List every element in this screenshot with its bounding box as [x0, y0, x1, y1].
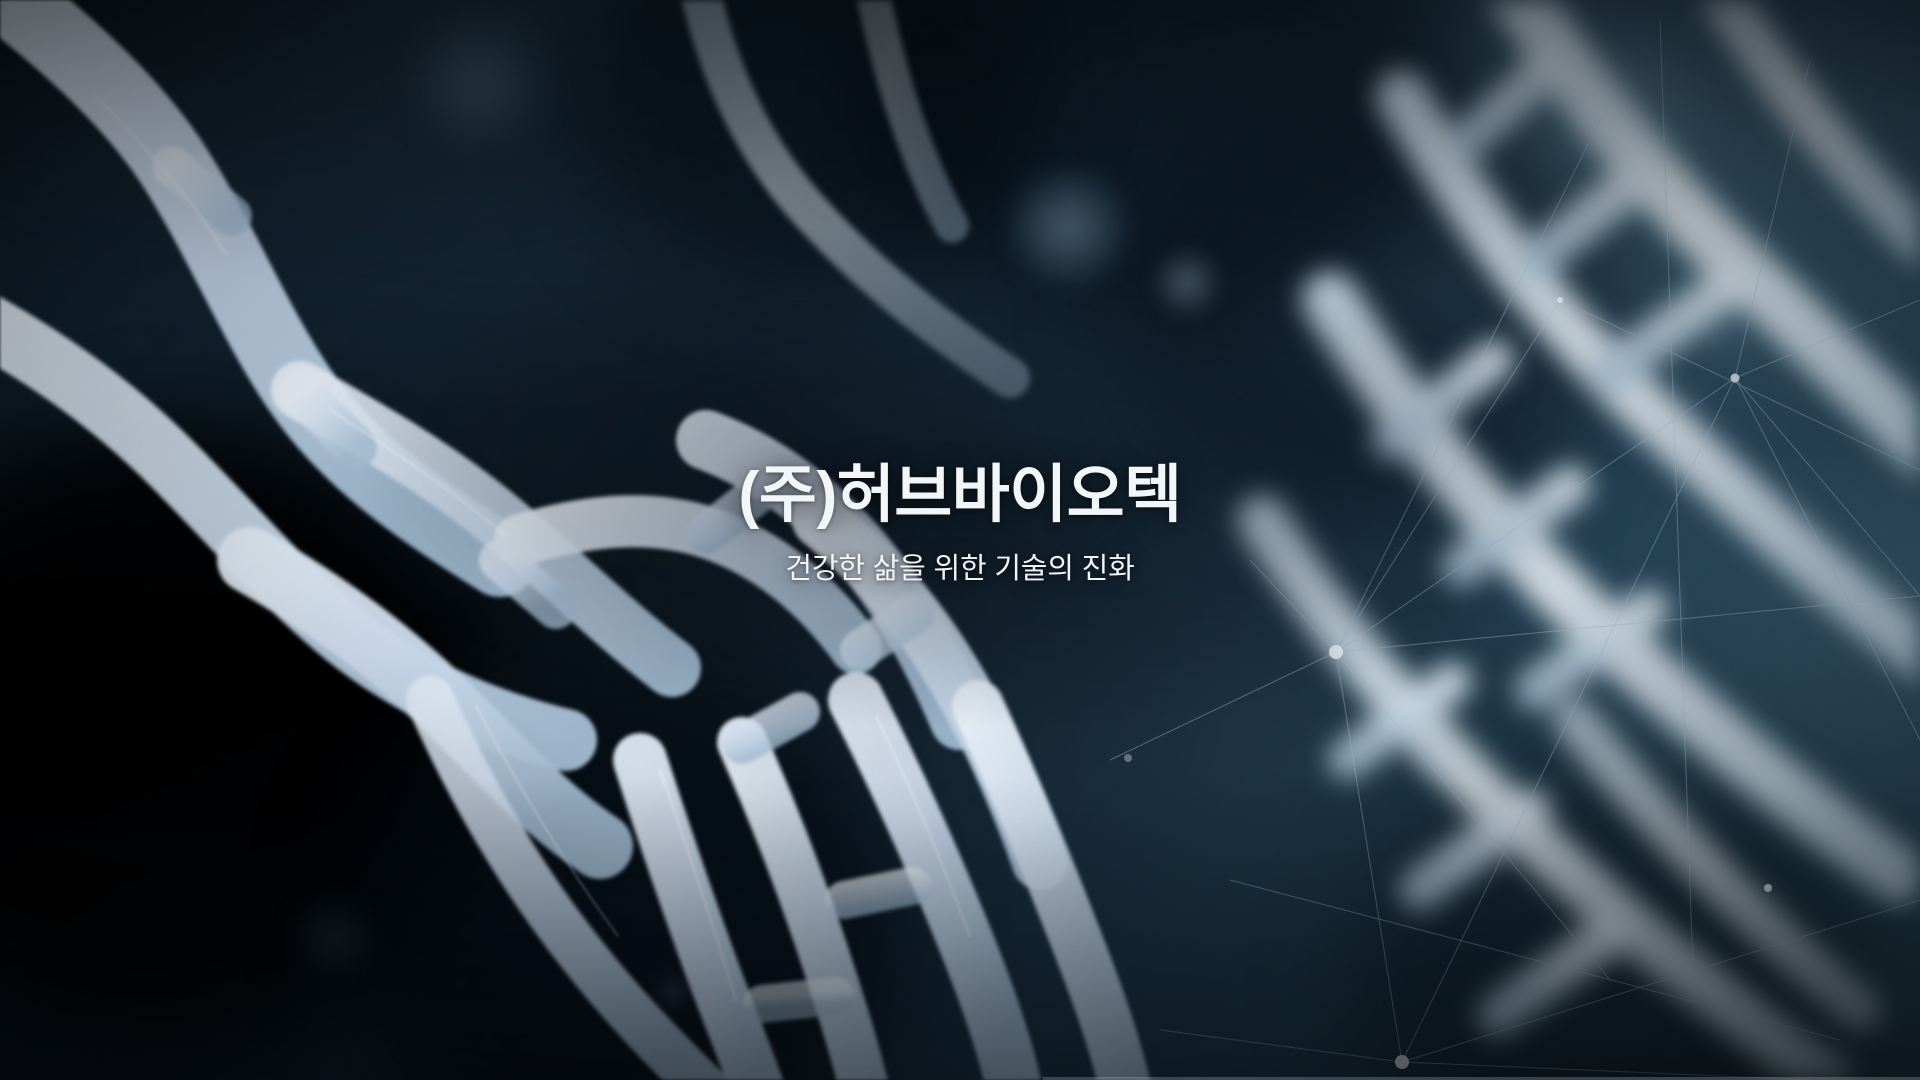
hero-copy-block: (주)허브바이오텍 건강한 삶을 위한 기술의 진화 [0, 0, 1920, 1080]
hero-section: (주)허브바이오텍 건강한 삶을 위한 기술의 진화 [0, 0, 1920, 1080]
hero-tagline: 건강한 삶을 위한 기술의 진화 [785, 549, 1134, 590]
page-title: (주)허브바이오텍 [738, 458, 1181, 532]
